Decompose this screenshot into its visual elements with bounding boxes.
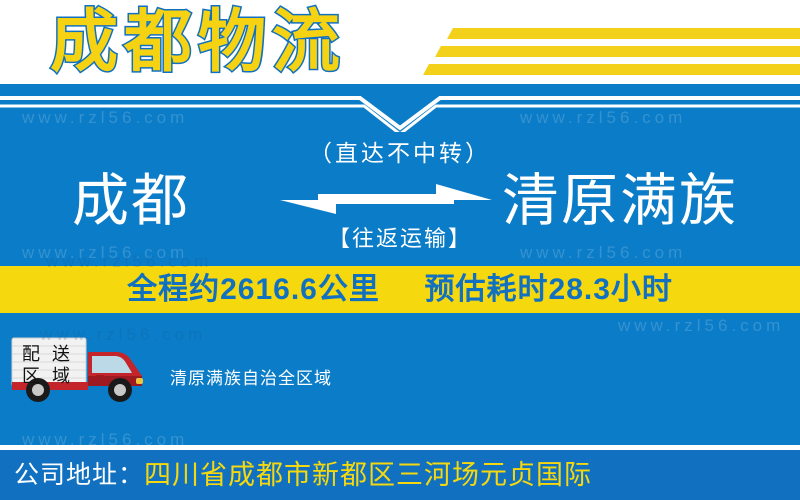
delivery-truck-icon: 配 送 区 域 [8, 332, 156, 404]
roundtrip-note: 【往返运输】 [0, 224, 800, 254]
truck-box-char-4: 域 [52, 366, 70, 386]
duration-value: 预估耗时28.3小时 [425, 273, 673, 306]
address-label: 公司地址： [14, 458, 144, 492]
truck-box-char-3: 区 [22, 366, 40, 386]
decorative-stripes [400, 14, 800, 74]
logistics-poster: 成都物流 （直达不中转） 成都 清原满族 【往返运输】 全程约2616.6公里 … [0, 0, 800, 500]
address-value: 四川省成都市新都区三河场元贞国际 [144, 458, 592, 492]
info-band: 全程约2616.6公里 预估耗时28.3小时 [0, 266, 800, 313]
chevron-down-icon [0, 84, 800, 132]
page-title: 成都物流 [50, 2, 346, 82]
stripe-3 [423, 64, 800, 75]
truck-box-char-1: 配 [22, 344, 40, 364]
distance-value: 全程约2616.6公里 [127, 273, 380, 306]
bidirectional-arrow-icon [280, 178, 492, 224]
direct-shipping-note: （直达不中转） [0, 138, 800, 168]
delivery-area-text: 清原满族自治全区域 [170, 368, 332, 390]
info-band-text: 全程约2616.6公里 预估耗时28.3小时 [127, 270, 673, 310]
stripe-2 [435, 46, 800, 57]
stripe-1 [447, 28, 800, 39]
footer-address-bar: 公司地址： 四川省成都市新都区三河场元贞国际 [0, 450, 800, 500]
header-band: 成都物流 [0, 0, 800, 84]
truck-box-char-2: 送 [52, 344, 70, 364]
